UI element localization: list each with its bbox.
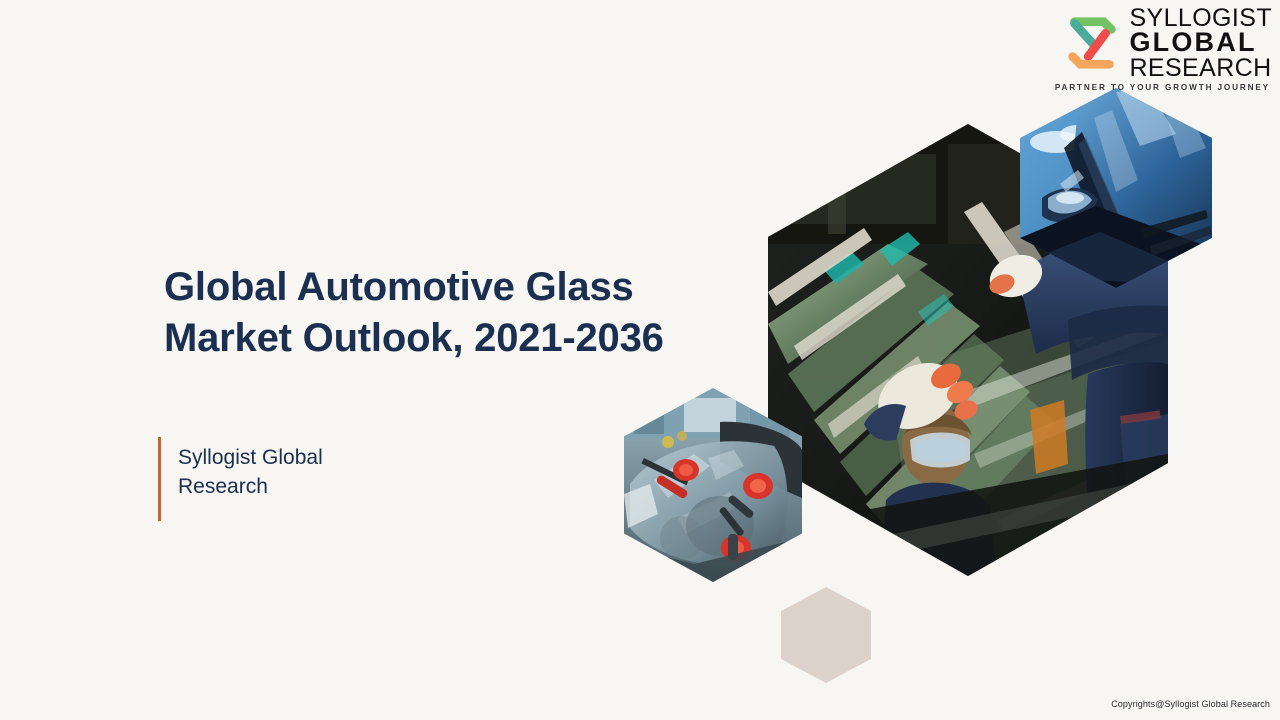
logo-row: SYLLOGIST GLOBAL RESEARCH bbox=[1061, 6, 1272, 80]
slide-canvas: SYLLOGIST GLOBAL RESEARCH PARTNER TO YOU… bbox=[0, 0, 1280, 720]
subtitle-text: Syllogist Global Research bbox=[178, 437, 378, 521]
subtitle-block: Syllogist Global Research bbox=[158, 437, 378, 521]
hexagon-image-main bbox=[768, 124, 1168, 576]
hexagon-image-car bbox=[1020, 88, 1212, 288]
copyright-footer: Copyrights@Syllogist Global Research bbox=[1111, 699, 1270, 709]
hexagon-decorative-blank bbox=[781, 587, 871, 683]
hexagon-image-tools bbox=[624, 388, 802, 582]
logo-line-global: GLOBAL bbox=[1129, 30, 1272, 56]
logo-line-research: RESEARCH bbox=[1129, 56, 1272, 80]
subtitle-accent-bar bbox=[158, 437, 161, 521]
logo-wordmark: SYLLOGIST GLOBAL RESEARCH bbox=[1129, 6, 1272, 80]
logo-tagline: PARTNER TO YOUR GROWTH JOURNEY bbox=[1055, 83, 1270, 92]
syllogist-logo-mark-icon bbox=[1061, 12, 1123, 74]
page-title: Global Automotive Glass Market Outlook, … bbox=[164, 262, 764, 364]
company-logo: SYLLOGIST GLOBAL RESEARCH PARTNER TO YOU… bbox=[1055, 6, 1272, 92]
